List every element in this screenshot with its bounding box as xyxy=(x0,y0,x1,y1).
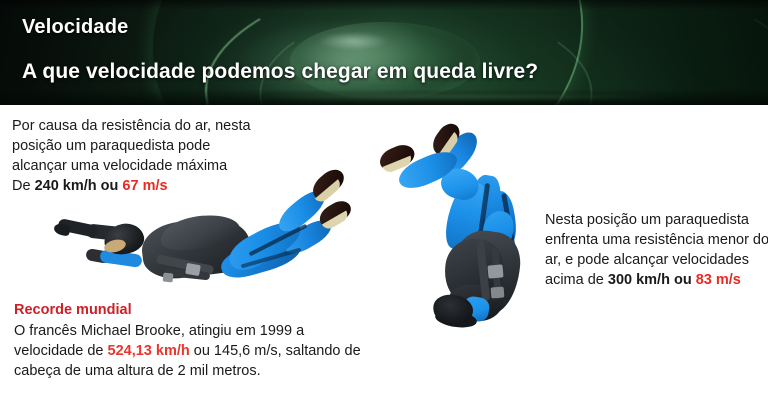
right-line4-speed-ms: 83 m/s xyxy=(696,272,741,288)
skydiver-left-harness-buckle-lower xyxy=(163,273,174,283)
header-droplet-highlight xyxy=(318,32,388,50)
header-bottom-fade xyxy=(0,89,768,105)
right-text-line-4: acima de 300 km/h ou 83 m/s xyxy=(545,270,768,290)
record-line2-suffix: ou 145,6 m/s, saltando de xyxy=(190,343,361,359)
header-banner: Velocidade A que velocidade podemos cheg… xyxy=(0,0,768,105)
world-record-line-2: velocidade de 524,13 km/h ou 145,6 m/s, … xyxy=(14,341,444,361)
left-line4-prefix: De xyxy=(12,178,35,194)
left-text-line-1: Por causa da resistência do ar, nesta xyxy=(12,116,342,136)
left-text-line-2: posição um paraquedista pode xyxy=(12,136,342,156)
right-text-line-3: ar, e pode alcançar velocidades xyxy=(545,250,768,270)
right-line4-speed-kmh: 300 km/h ou xyxy=(608,272,696,288)
page-title: Velocidade xyxy=(22,16,129,39)
world-record-line-3: cabeça de uma altura de 2 mil metros. xyxy=(14,361,444,381)
skydiver-right-harness-buckle-upper xyxy=(487,264,503,278)
page-subtitle: A que velocidade podemos chegar em queda… xyxy=(22,60,538,84)
header-top-sheen xyxy=(0,0,768,10)
right-text-line-2: enfrenta uma resistência menor do xyxy=(545,230,768,250)
world-record-line-1: O francês Michael Brooke, atingiu em 199… xyxy=(14,321,444,341)
slide-root: Velocidade A que velocidade podemos cheg… xyxy=(0,0,768,406)
skydiver-right-harness-buckle-lower xyxy=(491,287,505,299)
skydiver-belly-to-earth-image xyxy=(60,178,320,303)
left-text-line-3: alcançar uma velocidade máxima xyxy=(12,156,342,176)
right-text-line-1: Nesta posição um paraquedista xyxy=(545,210,768,230)
record-speed-kmh: 524,13 km/h xyxy=(108,343,190,359)
record-line2-prefix: velocidade de xyxy=(14,343,108,359)
skydiver-head-down-image xyxy=(375,135,560,320)
right-text-block: Nesta posição um paraquedista enfrenta u… xyxy=(545,210,768,290)
skydiver-left-harness-buckle-upper xyxy=(185,263,201,276)
